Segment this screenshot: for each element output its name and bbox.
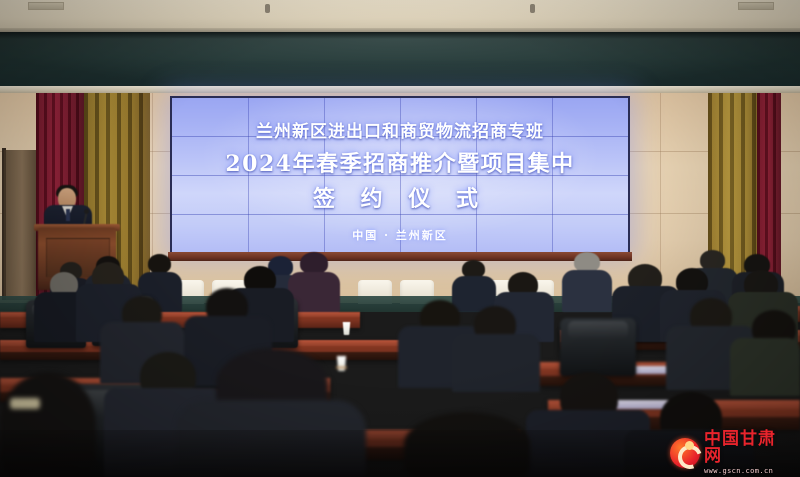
- screen-base-trim: [168, 252, 632, 261]
- speaker-tie: [66, 209, 70, 221]
- audience-head: [574, 252, 600, 272]
- screen-headline-1: 兰州新区进出口和商贸物流招商专班: [256, 117, 544, 142]
- conference-photo: 兰州新区进出口和商贸物流招商专班 2024年春季招商推介暨项目集中 签 约 仪 …: [0, 0, 800, 477]
- screen-content: 兰州新区进出口和商贸物流招商专班 2024年春季招商推介暨项目集中 签 约 仪 …: [172, 98, 628, 252]
- ceiling-light-icon: [530, 4, 535, 13]
- audience-body: [730, 338, 800, 396]
- watermark-text: 中国甘肃网 www.gscn.com.cn: [704, 431, 792, 475]
- ceiling-vent-icon: [738, 2, 774, 10]
- audience-head: [148, 254, 171, 273]
- led-video-wall: 兰州新区进出口和商贸物流招商专班 2024年春季招商推介暨项目集中 签 约 仪 …: [170, 96, 630, 254]
- ceiling-vent-icon: [28, 2, 64, 10]
- ceiling: [0, 0, 800, 30]
- watermark: 中国甘肃网 www.gscn.com.cn: [670, 435, 792, 471]
- watermark-site-name: 中国甘肃网: [704, 431, 792, 465]
- screen-headline-2: 2024年春季招商推介暨项目集中: [225, 146, 574, 178]
- wall-seam: [660, 93, 661, 293]
- ceiling-light-icon: [265, 4, 270, 13]
- cup-band: [336, 366, 347, 369]
- microphone-head-icon: [84, 209, 89, 214]
- upper-wall-band: [0, 32, 800, 88]
- paper-cup: [342, 322, 351, 335]
- gscn-swirl-logo-icon: [670, 438, 700, 468]
- watermark-url: www.gscn.com.cn: [704, 468, 792, 475]
- screen-headline-3: 签 约 仪 式: [313, 181, 487, 213]
- audience-body: [562, 270, 612, 312]
- hair-clip: [10, 398, 40, 409]
- side-door[interactable]: [4, 150, 38, 300]
- screen-location: 中国 · 兰州新区: [352, 227, 448, 243]
- upper-wall-shadow: [0, 32, 800, 39]
- led-screen-surface: 兰州新区进出口和商贸物流招商专班 2024年春季招商推介暨项目集中 签 约 仪 …: [172, 98, 628, 252]
- audience-body: [452, 334, 540, 392]
- audience-chair: [560, 318, 636, 376]
- audience-head: [300, 252, 328, 274]
- audience-head: [700, 250, 725, 270]
